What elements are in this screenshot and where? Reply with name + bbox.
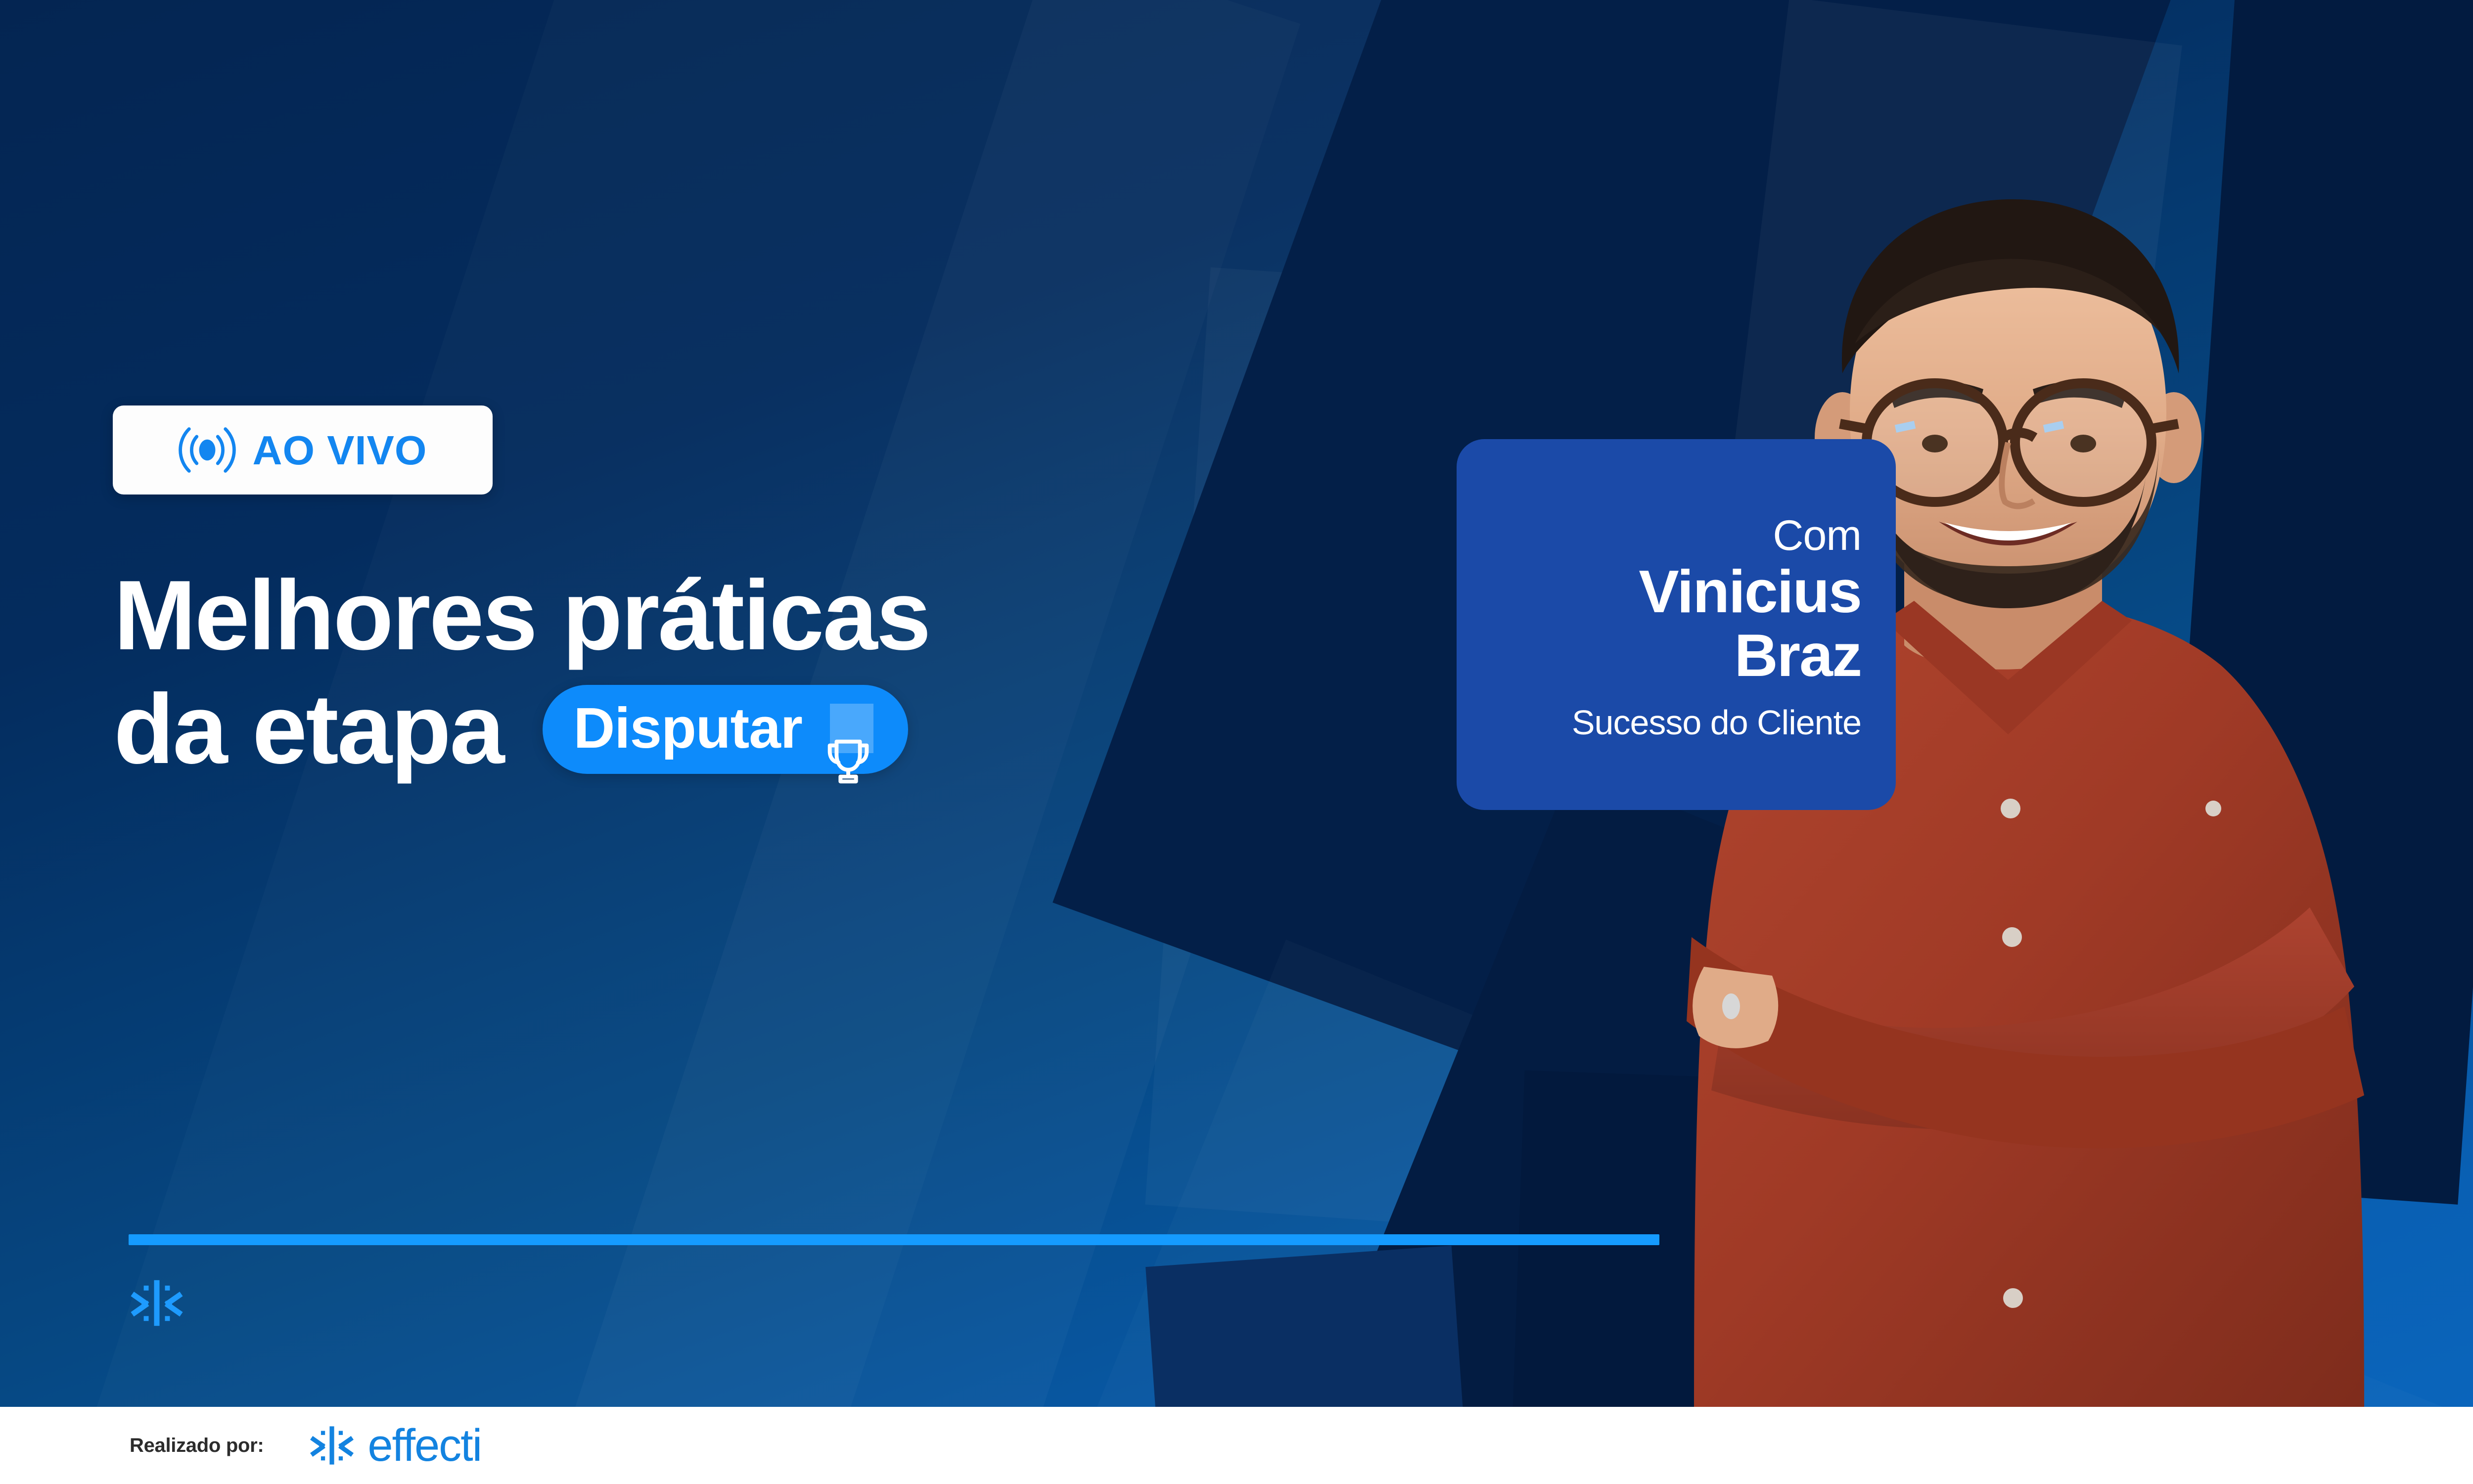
decor-rect-bottom-left: [1145, 1246, 1466, 1407]
live-badge-label: AO VIVO: [253, 430, 427, 471]
headline-line-1: Melhores práticas: [114, 559, 1400, 673]
trophy-icon-wrap: [819, 699, 877, 757]
speaker-prefix: Com: [1491, 512, 1861, 559]
broadcast-signal-icon: [179, 421, 236, 479]
footer-bar: Realizado por: effecti: [0, 1407, 2473, 1484]
speaker-role: Sucesso do Cliente: [1491, 704, 1861, 742]
disputar-button[interactable]: Disputar: [543, 685, 908, 774]
speaker-card: Com Vinicius Braz Sucesso do Cliente: [1457, 439, 1896, 810]
effecti-snowflake-icon: [130, 1276, 184, 1330]
disputar-label: Disputar: [573, 699, 802, 757]
effecti-logo: effecti: [309, 1423, 481, 1468]
live-badge[interactable]: AO VIVO: [113, 405, 493, 495]
banner-background: AO VIVO Melhores práticas da etapa Dispu…: [0, 0, 2473, 1407]
progress-bar[interactable]: [129, 1234, 1659, 1245]
speaker-name-line2: Braz: [1491, 625, 1861, 686]
trophy-icon: [819, 731, 877, 789]
speaker-name-line1: Vinicius: [1491, 561, 1861, 622]
page-title: Melhores práticas da etapa Disputar: [114, 559, 1400, 786]
made-by-label: Realizado por:: [130, 1435, 264, 1457]
effecti-snowflake-icon: [309, 1423, 355, 1468]
headline-line-2: da etapa: [114, 673, 503, 786]
banner-stage: AO VIVO Melhores práticas da etapa Dispu…: [0, 0, 2473, 1484]
effecti-wordmark: effecti: [367, 1423, 481, 1468]
